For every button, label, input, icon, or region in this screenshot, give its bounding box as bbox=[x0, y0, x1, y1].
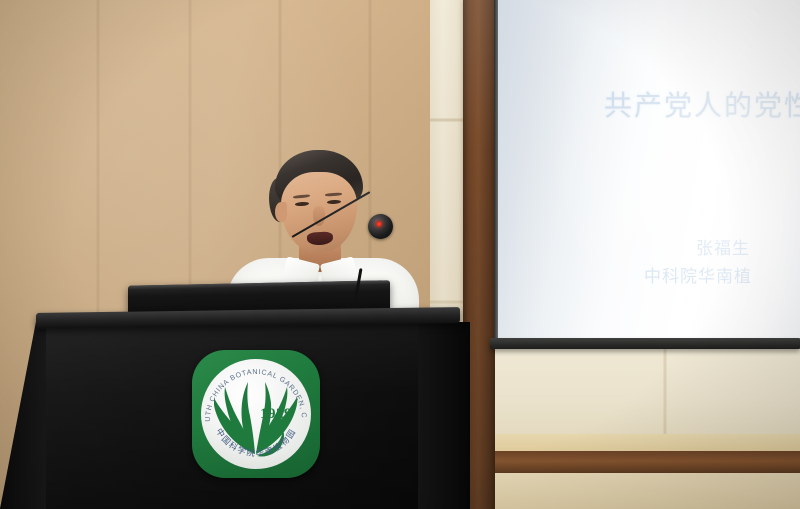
cream-marble-panel bbox=[495, 348, 800, 434]
emblem-cn-text: 中国科学院华南植物园 bbox=[214, 426, 298, 458]
marble-band bbox=[495, 434, 800, 451]
emblem-arc-text-chinese: 中国科学院华南植物园 bbox=[192, 350, 320, 478]
podium-right-edge bbox=[418, 322, 470, 509]
screen-surface: 共产党人的党性与 张福生 中科院华南植 bbox=[498, 0, 800, 340]
lower-right-wall bbox=[495, 345, 800, 509]
podium-left-face bbox=[0, 322, 46, 509]
lecture-photo-scene: 共产党人的党性与 张福生 中科院华南植 bbox=[0, 0, 800, 509]
microphone-led-indicator bbox=[376, 221, 382, 227]
svg-text:中国科学院华南植物园: 中国科学院华南植物园 bbox=[214, 426, 298, 458]
projection-screen: 共产党人的党性与 张福生 中科院华南植 bbox=[494, 0, 800, 352]
slide-title: 共产党人的党性与 bbox=[604, 84, 800, 124]
wood-baseboard-band bbox=[495, 451, 800, 473]
screen-bottom-weight-bar bbox=[490, 338, 800, 349]
ear bbox=[275, 202, 287, 222]
slide-author: 张福生 bbox=[696, 234, 750, 259]
botanical-garden-emblem: 1929 SOUTH CHINA BOTANICAL GARDEN, CAS 中… bbox=[192, 350, 320, 478]
floor-marble bbox=[495, 473, 800, 509]
slide-affiliation: 中科院华南植 bbox=[644, 262, 752, 287]
